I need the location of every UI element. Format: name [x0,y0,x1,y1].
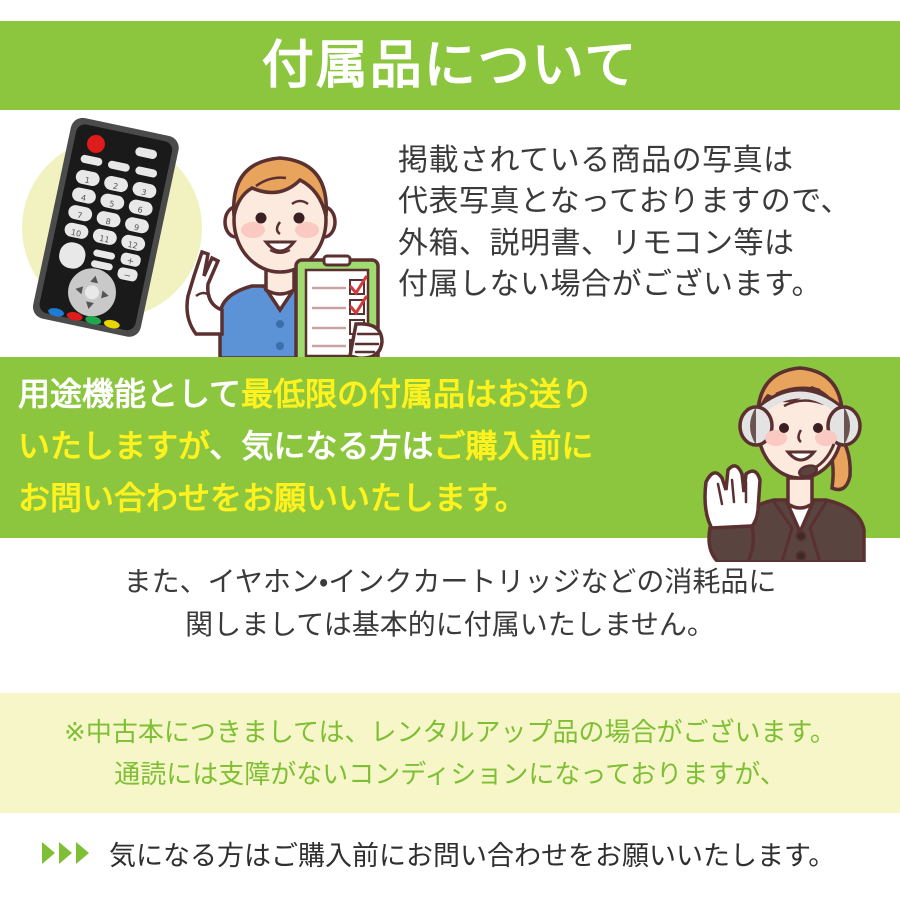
middle-paragraph: また、イヤホン・インクカートリッジなどの消耗品に 関しましては基本的に付属いたし… [0,560,900,647]
middle-line-1: また、イヤホン・インクカートリッジなどの消耗品に [0,560,900,603]
arrow-group [42,842,89,864]
note-line-1: ※中古本につきましては、レンタルアップ品の場合がございます。 [64,711,836,753]
highlight-line-1-white: 用途機能として [18,376,241,412]
svg-text:10: 10 [70,228,82,239]
intro-line-4: 付属しない場合がございます。 [398,264,878,305]
triangle-right-icon [76,842,89,864]
highlight-line-1-yellow: 最低限の付属品はお送り [241,376,593,412]
intro-paragraph: 掲載されている商品の写真は 代表写真となっておりますので、 外箱、説明書、リモコ… [398,140,878,306]
intro-section: 123 456 789 101112 + − [0,110,900,357]
svg-text:12: 12 [127,240,139,251]
triangle-right-icon [59,842,72,864]
intro-line-3: 外箱、説明書、リモコン等は [398,223,878,264]
svg-text:11: 11 [98,234,110,245]
note-box: ※中古本につきましては、レンタルアップ品の場合がございます。 通読には支障がない… [0,693,900,813]
cta-text: 気になる方はご購入前にお問い合わせをお願いいたします。 [109,834,835,873]
intro-illustration: 123 456 789 101112 + − [0,110,380,357]
highlight-paragraph: 用途機能として最低限の付属品はお送り いたしますが、気になる方はご購入前に お問… [18,369,738,524]
man-with-clipboard-icon [160,118,385,363]
intro-line-1: 掲載されている商品の写真は [398,140,878,181]
highlight-line-2-yellow-b: ご購入前に [433,428,593,464]
promo-banner: 付属品について [0,0,900,900]
headset-operator-icon [700,332,900,562]
highlight-line-3-yellow: お問い合わせをお願いいたします。 [18,480,527,516]
triangle-right-icon [42,842,55,864]
page-title: 付属品について [262,40,638,92]
cta-row: 気になる方はご購入前にお問い合わせをお願いいたします。 [0,828,900,878]
highlight-line-2-white: 、気になる方は [209,428,433,464]
note-line-2: 通読には支障がないコンディションになっておりますが、 [114,753,786,795]
header-band: 付属品について [0,21,900,110]
highlight-line-3: お問い合わせをお願いいたします。 [18,473,738,525]
middle-line-2: 関しましては基本的に付属いたしません。 [0,603,900,646]
highlight-line-2: いたしますが、気になる方はご購入前に [18,421,738,473]
intro-line-2: 代表写真となっておりますので、 [398,181,878,222]
highlight-line-2-yellow-a: いたしますが [18,428,209,464]
highlight-line-1: 用途機能として最低限の付属品はお送り [18,369,738,421]
